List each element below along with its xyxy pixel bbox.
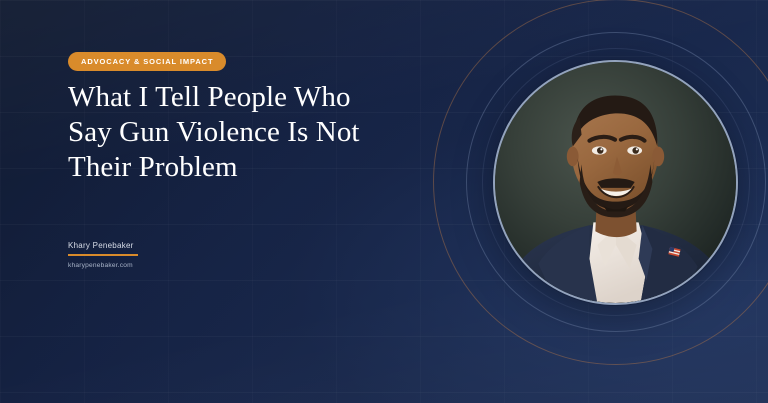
social-share-card: ADVOCACY & SOCIAL IMPACT What I Tell Peo…	[0, 0, 768, 403]
author-name: Khary Penebaker	[68, 240, 268, 251]
headline-line-2: Say Gun Violence Is Not	[68, 115, 398, 150]
headline-line-3: Their Problem	[68, 150, 398, 185]
byline: Khary Penebaker kharypenebaker.com	[68, 240, 268, 269]
portrait-avatar	[493, 60, 738, 305]
author-website[interactable]: kharypenebaker.com	[68, 262, 268, 269]
headline-line-1: What I Tell People Who	[68, 80, 398, 115]
category-badge[interactable]: ADVOCACY & SOCIAL IMPACT	[68, 52, 226, 71]
card-content: ADVOCACY & SOCIAL IMPACT What I Tell Peo…	[68, 0, 448, 403]
page-title: What I Tell People Who Say Gun Violence …	[68, 80, 398, 185]
byline-divider	[68, 254, 138, 256]
